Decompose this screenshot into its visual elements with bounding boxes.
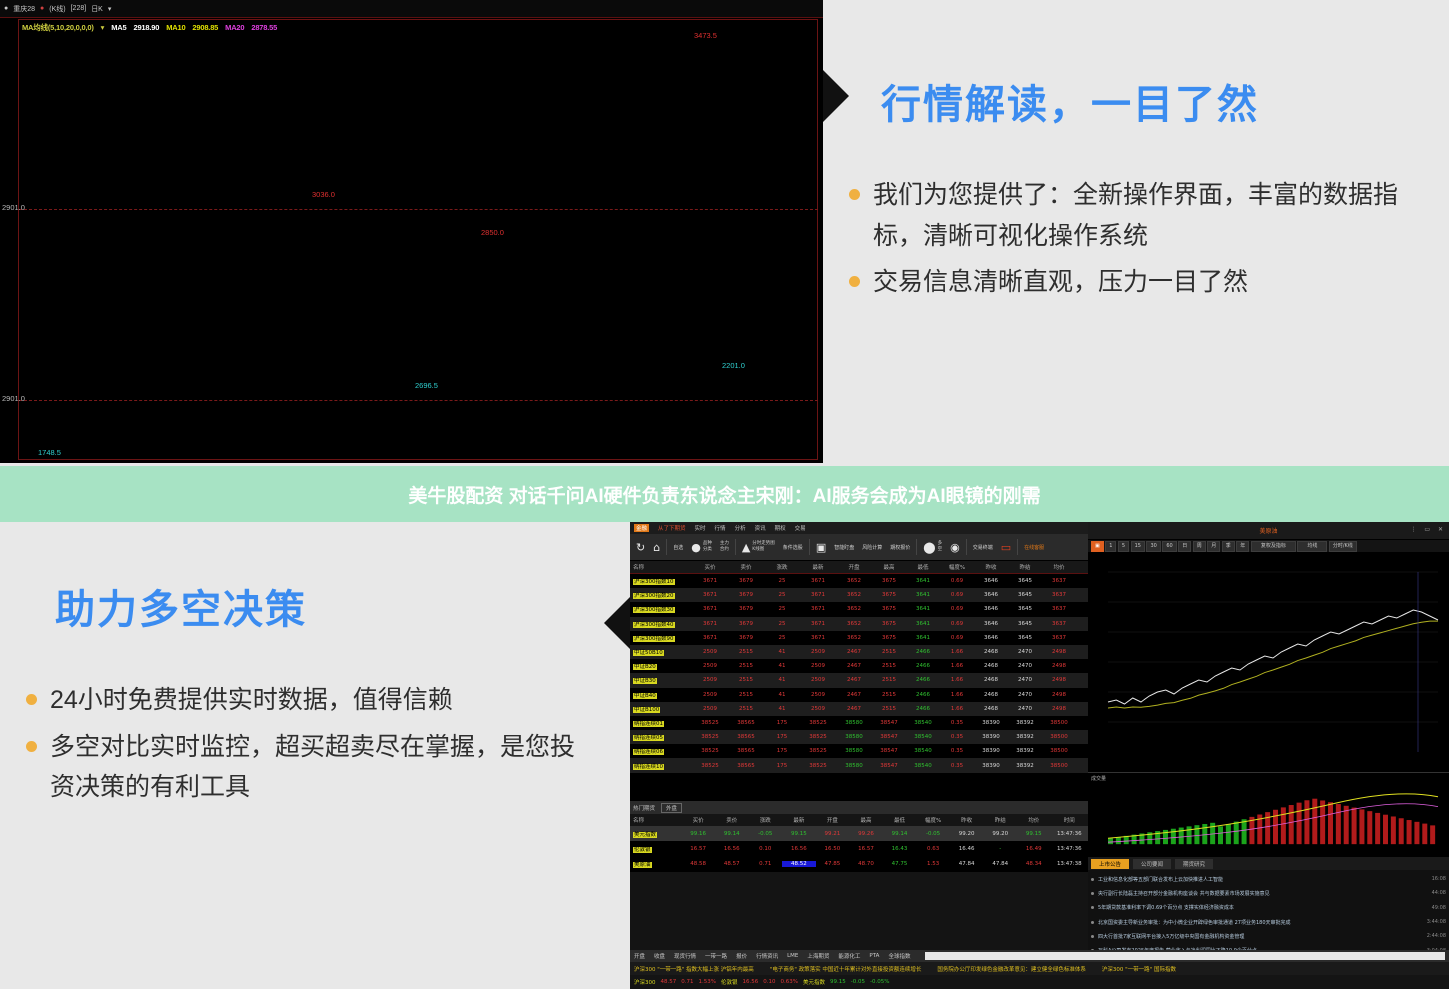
cell-5: 38547 [872, 734, 906, 740]
cell-1: 38565 [728, 720, 764, 726]
table-row[interactable]: 沪深300指数20367136792536713652367536410.693… [630, 588, 1088, 602]
table-row[interactable]: 沪深300指数90367136792536713652367536410.693… [630, 631, 1088, 645]
news-item[interactable]: 工业和信息化部等五部门联合发布上云加快推进人工智能16:08 [1091, 872, 1446, 886]
news-title: 四大行首批7家互联网平台接入5万亿级中央国有金融机构资金管理 [1098, 933, 1423, 940]
cell-2: 41 [764, 692, 800, 698]
toolbar-separator [1017, 539, 1018, 555]
table-row[interactable]: 美元指数99.1699.14-0.0599.1599.2199.2699.14-… [630, 826, 1088, 841]
toolbar-label-2: 自选 [673, 544, 683, 551]
table-row[interactable]: 中证B20250925154125092467251524661.6624682… [630, 659, 1088, 673]
status-quote-value: 16.56 [743, 979, 759, 985]
status-menu-item[interactable]: 上海期货 [807, 952, 829, 960]
headline-banner: 美牛股配资 对话千问AI硬件负责东说念主宋刚：AI服务会成为AI眼镜的刚需 [0, 466, 1449, 522]
cell-3: 2509 [800, 692, 836, 698]
toolbar-button-11[interactable]: ⬤多空 [921, 541, 944, 552]
quote2-tab-0[interactable]: 热门期货 [633, 804, 655, 812]
cell-1: 99.14 [715, 831, 749, 837]
ma20-value: 2878.55 [251, 23, 277, 32]
chart-type-icon[interactable]: ▣ [1091, 541, 1104, 552]
trading-terminal-screenshot: 金融从了下期货实时行情分析资讯期权交易 ↻⌂自选●品种分类主力合约▲分时走势图K… [630, 522, 1449, 989]
column-header-5[interactable]: 开盘 [836, 563, 872, 571]
cell-9: 3645 [1008, 606, 1042, 612]
period-button-年[interactable]: 年 [1236, 541, 1249, 552]
toolbar-icon-7: ▣ [816, 542, 826, 553]
period-button-月[interactable]: 月 [1207, 541, 1220, 552]
cell-3: 38525 [800, 748, 836, 754]
q2-header-4[interactable]: 最新 [782, 816, 816, 824]
table-row[interactable]: 沪深300指数30367136792536713652367536410.693… [630, 602, 1088, 616]
ma-legend-name[interactable]: MA均线(5,10,20,0,0,0) [22, 22, 94, 33]
chart-title-dot: ● [4, 5, 8, 12]
cell-3: 3671 [800, 635, 836, 641]
table-row[interactable]: 中证B100250925154125092467251524661.662468… [630, 702, 1088, 716]
toolbar-icon-12: ◉ [950, 542, 960, 553]
cell-7: 1.66 [940, 677, 974, 683]
toolbar-button-13[interactable]: 交易终端 [971, 544, 995, 551]
cell-1: 3679 [728, 592, 764, 598]
row-instrument-name: 中证B40 [630, 691, 692, 699]
status-menu-item[interactable]: 全球指数 [888, 952, 910, 960]
chart-pane-title: 美原油 [1259, 526, 1277, 535]
table-row[interactable]: 纳指连续013852538565175385253858038547385400… [630, 716, 1088, 730]
q2-header-5[interactable]: 开盘 [816, 816, 850, 824]
toolbar-separator [916, 539, 917, 555]
news-date: 49:08 [1432, 905, 1446, 911]
news-tab[interactable]: 公司要闻 [1133, 859, 1171, 869]
cell-0: 2509 [692, 677, 728, 683]
cell-2: 175 [764, 748, 800, 754]
cell-5: 3675 [872, 635, 906, 641]
cell-4: 3652 [836, 592, 872, 598]
cell-3: 38525 [800, 734, 836, 740]
toolbar-label-8: 智能盯盘 [834, 544, 854, 551]
indicator-dropdown[interactable]: 复权及指标 [1251, 541, 1296, 552]
toolbar-button-5[interactable]: ▲分时走势图K线图 [740, 541, 777, 552]
cell-5: 2515 [872, 649, 906, 655]
secondary-quote-table: 名称买价卖价涨跌最新开盘最高最低幅度%昨收昨结均价时间 美元指数99.1699.… [630, 814, 1088, 872]
toolbar-separator [809, 539, 810, 555]
toolbar-button-9[interactable]: 风险计算 [860, 544, 884, 551]
cell-5: 38547 [872, 720, 906, 726]
ma-legend-caret[interactable]: ▾ [101, 23, 105, 32]
table-row[interactable]: 纳指连续053852538565175385253858038547385400… [630, 730, 1088, 744]
ma5-value: 2918.90 [133, 23, 159, 32]
terminal-tab-bar: 金融从了下期货实时行情分析资讯期权交易 [630, 522, 1088, 534]
status-quote-label: 伦敦银 [721, 978, 738, 986]
column-header-6[interactable]: 最高 [872, 563, 906, 571]
q2-header-9[interactable]: 昨收 [950, 816, 984, 824]
cell-4: 2467 [836, 649, 872, 655]
gridline-lower [19, 400, 818, 401]
toolbar-button-12[interactable]: ◉ [948, 542, 962, 553]
toolbar-button-10[interactable]: 期权报价 [888, 544, 912, 551]
period-button-1[interactable]: 1 [1105, 541, 1116, 552]
cell-6: 16.43 [883, 846, 917, 852]
cell-4: 3652 [836, 635, 872, 641]
table-row[interactable]: 纳指连续103852538565175385253858038547385400… [630, 758, 1088, 772]
terminal-toolbar: ↻⌂自选●品种分类主力合约▲分时走势图K线图条件选股▣智能盯盘风险计算期权报价⬤… [630, 534, 1088, 561]
cell-10: 99.15 [1017, 831, 1051, 837]
cell-10: 3637 [1042, 578, 1076, 584]
chart-period-selector[interactable]: 日K [91, 4, 103, 14]
column-header-10[interactable]: 昨结 [1008, 563, 1042, 571]
status-quote-chg: -0.05 [851, 979, 865, 985]
cell-0: 38525 [692, 734, 728, 740]
cell-6: 2466 [906, 677, 940, 683]
toolbar-separator [966, 539, 967, 555]
cell-4: 99.21 [816, 831, 850, 837]
toolbar-label-3: 品种分类 [703, 541, 712, 552]
column-header-2[interactable]: 卖价 [728, 563, 764, 571]
news-tab[interactable]: 期货研究 [1175, 859, 1213, 869]
chart-title-marker: ● [40, 5, 44, 12]
cell-8: 2468 [974, 677, 1008, 683]
cell-7: 0.35 [940, 763, 974, 769]
cell-5: 3675 [872, 621, 906, 627]
ticker-item: 国务院办公厅印发绿色金融改革意见：建立健全绿色标准体系 [937, 965, 1086, 973]
cell-5: 3675 [872, 592, 906, 598]
cell-6: 2466 [906, 663, 940, 669]
cell-10: 3637 [1042, 606, 1076, 612]
bullet-dot-icon [1091, 906, 1094, 909]
toolbar-label-9: 风险计算 [862, 544, 882, 551]
toolbar-button-8[interactable]: 智能盯盘 [832, 544, 856, 551]
row-instrument-name: 中证B20 [630, 662, 692, 670]
column-header-7[interactable]: 最低 [906, 563, 940, 571]
terminal-tab-7[interactable]: 交易 [795, 524, 806, 532]
column-header-1[interactable]: 买价 [692, 563, 728, 571]
row-instrument-name: 伦敦银 [630, 845, 681, 853]
column-header-4[interactable]: 最新 [800, 563, 836, 571]
cell-3: 16.56 [782, 846, 816, 852]
toolbar-icon-3: ● [691, 542, 701, 553]
terminal-tab-2[interactable]: 实时 [695, 524, 706, 532]
cell-4: 2467 [836, 663, 872, 669]
table-row[interactable]: 沪深300指数40367136792536713652367536410.693… [630, 617, 1088, 631]
cell-0: 38525 [692, 720, 728, 726]
bottom-bullet-1: 24小时免费提供实时数据，值得信赖 [50, 680, 453, 721]
cell-1: 3679 [728, 635, 764, 641]
bullet-dot-icon [26, 694, 37, 705]
row-instrument-name: 纳指连续05 [630, 733, 692, 741]
cell-8: 2468 [974, 663, 1008, 669]
table-row[interactable]: 中证B40250925154125092467251524661.6624682… [630, 688, 1088, 702]
top-kline-chart-screenshot: ● 重庆28 ● (K线) [228] 日K ▾ MA均线(5,10,20,0,… [0, 0, 823, 463]
top-text-column: 行情解读，一目了然 我们为您提供了：全新操作界面，丰富的数据指标，清晰可视化操作… [823, 0, 1449, 463]
column-header-9[interactable]: 昨收 [974, 563, 1008, 571]
row-instrument-name: 纳指连续01 [630, 719, 692, 727]
cell-4: 38580 [836, 734, 872, 740]
status-quote-chg: 0.71 [681, 979, 693, 985]
cell-5: 99.26 [849, 831, 883, 837]
status-quote-label: 美元指数 [803, 978, 825, 986]
status-quote-label: 沪深300 [634, 978, 656, 986]
cell-7: 1.66 [940, 663, 974, 669]
cell-10: 3637 [1042, 621, 1076, 627]
terminal-tab-5[interactable]: 资讯 [755, 524, 766, 532]
toolbar-button-7[interactable]: ▣ [814, 542, 828, 553]
status-menu-item[interactable]: 一带一路 [705, 952, 727, 960]
pointer-arrow-icon [604, 597, 630, 649]
news-tab-bar: 上市公告公司要闻期货研究 [1088, 857, 1449, 870]
cell-4: 3652 [836, 578, 872, 584]
status-quote-value: 99.15 [830, 979, 846, 985]
cell-7: 0.35 [940, 748, 974, 754]
cell-6: 3641 [906, 578, 940, 584]
cell-8: 2468 [974, 649, 1008, 655]
q2-header-7[interactable]: 最低 [883, 816, 917, 824]
cell-7: 0.69 [940, 621, 974, 627]
cell-4: 47.85 [816, 861, 850, 867]
row-instrument-name: 中证B30 [630, 676, 692, 684]
cell-8: 38390 [974, 734, 1008, 740]
gridline-upper [19, 209, 818, 210]
cell-0: 3671 [692, 592, 728, 598]
q2-header-1[interactable]: 买价 [681, 816, 715, 824]
terminal-tab-0[interactable]: 金融 [634, 524, 649, 532]
status-menu-item[interactable]: 报价 [736, 952, 747, 960]
period-button-日[interactable]: 日 [1178, 541, 1191, 552]
cell-2: 25 [764, 578, 800, 584]
cell-0: 3671 [692, 635, 728, 641]
cell-2: 175 [764, 720, 800, 726]
q2-header-2[interactable]: 卖价 [715, 816, 749, 824]
cell-8: 38390 [974, 748, 1008, 754]
top-bullet-2: 交易信息清晰直观，压力一目了然 [873, 262, 1248, 303]
cell-2: 0.71 [748, 861, 782, 867]
cell-0: 16.57 [681, 846, 715, 852]
status-menu-item[interactable]: PTA [869, 953, 879, 959]
cell-9: 99.20 [983, 831, 1017, 837]
bullet-dot-icon [1091, 935, 1094, 938]
cell-3: 48.52 [782, 861, 816, 867]
toolbar-label-6: 条件选股 [783, 544, 803, 551]
news-title: 工业和信息化部等五部门联合发布上云加快推进人工智能 [1098, 876, 1428, 883]
row-instrument-name: 美元指数 [630, 830, 681, 838]
column-header-3[interactable]: 涨跌 [764, 563, 800, 571]
terminal-tab-1[interactable]: 从了下期货 [658, 524, 686, 532]
cell-2: 25 [764, 592, 800, 598]
status-quote-pct: 0.63% [781, 979, 798, 985]
cell-7: 0.69 [940, 578, 974, 584]
cell-7: 1.66 [940, 649, 974, 655]
cell-9: - [983, 846, 1017, 852]
cell-10: 38500 [1042, 720, 1076, 726]
quote2-tab-1[interactable]: 外盘 [661, 803, 682, 813]
cell-3: 99.15 [782, 831, 816, 837]
cell-10: 2498 [1042, 692, 1076, 698]
status-menu-item[interactable]: 收盘 [654, 952, 665, 960]
bullet-dot-icon [1091, 878, 1094, 881]
toolbar-label-5: 分时走势图K线图 [752, 541, 775, 552]
toolbar-icon-14: ▭ [1001, 542, 1011, 553]
table-row[interactable]: 中证B30250925154125092467251524661.6624682… [630, 673, 1088, 687]
cell-8: 2468 [974, 706, 1008, 712]
cell-2: -0.05 [748, 831, 782, 837]
terminal-tab-3[interactable]: 行情 [715, 524, 726, 532]
q2-header-6[interactable]: 最高 [849, 816, 883, 824]
period-button-60[interactable]: 60 [1162, 541, 1176, 552]
cell-6: 38540 [906, 734, 940, 740]
news-date: 16:08 [1432, 876, 1446, 882]
period-button-周[interactable]: 周 [1193, 541, 1206, 552]
table-row[interactable]: 沪深300指数10367136792536713652367536410.693… [630, 574, 1088, 588]
table-row[interactable]: 中证50B10250925154125092467251524661.66246… [630, 645, 1088, 659]
cell-10: 38500 [1042, 763, 1076, 769]
period-button-30[interactable]: 30 [1146, 541, 1160, 552]
bullet-dot-icon [849, 276, 860, 287]
cell-1: 2515 [728, 706, 764, 712]
quote-table-body: 沪深300指数10367136792536713652367536410.693… [630, 574, 1088, 773]
toolbar-button-3[interactable]: ●品种分类 [689, 541, 714, 552]
q2-header-0[interactable]: 名称 [630, 816, 681, 824]
secondary-quote-header: 名称买价卖价涨跌最新开盘最高最低幅度%昨收昨结均价时间 [630, 814, 1088, 826]
cell-5: 3675 [872, 606, 906, 612]
ma-dropdown[interactable]: 均线 [1297, 541, 1327, 552]
cell-7: 1.53 [916, 861, 950, 867]
indicator-chart-plot [1088, 773, 1449, 857]
toolbar-icon-1: ⌂ [653, 542, 660, 553]
news-date: 2:44:08 [1427, 933, 1446, 939]
chart-mode-toggle[interactable]: 分时/K线 [1329, 541, 1357, 552]
q2-header-8[interactable]: 幅度% [916, 816, 950, 824]
cell-8: 2468 [974, 692, 1008, 698]
cell-5: 2515 [872, 663, 906, 669]
cell-6: 3641 [906, 592, 940, 598]
quote-table: 名称买价卖价涨跌最新开盘最高最低幅度%昨收昨结均价 沪深300指数1036713… [630, 561, 1088, 801]
news-item[interactable]: 四大行首批7家互联网平台接入5万亿级中央国有金融机构资金管理2:44:08 [1091, 929, 1446, 943]
toolbar-button-4[interactable]: 主力合约 [718, 541, 731, 552]
toolbar-button-2[interactable]: 自选 [671, 544, 685, 551]
list-item: 我们为您提供了：全新操作界面，丰富的数据指标，清晰可视化操作系统 [849, 175, 1439, 256]
toolbar-label-11: 多空 [938, 541, 943, 552]
cell-2: 41 [764, 649, 800, 655]
terminal-tab-4[interactable]: 分析 [735, 524, 746, 532]
toolbar-button-6[interactable]: 条件选股 [781, 544, 805, 551]
cell-7: 1.66 [940, 692, 974, 698]
cell-2: 175 [764, 734, 800, 740]
q2-header-12[interactable]: 时间 [1051, 816, 1089, 824]
news-title: 5年期贷款基准利率下调0.69个百分点 支撑实体经济融资成本 [1098, 904, 1428, 911]
status-menu-item[interactable]: 能源化工 [838, 952, 860, 960]
top-feature-section: ● 重庆28 ● (K线) [228] 日K ▾ MA均线(5,10,20,0,… [0, 0, 1449, 466]
cell-9: 3645 [1008, 578, 1042, 584]
bottom-text-column: 助力多空决策 24小时免费提供实时数据，值得信赖 多空对比实时监控，超买超卖尽在… [0, 522, 630, 989]
column-header-8[interactable]: 幅度% [940, 563, 974, 571]
column-header-11[interactable]: 均价 [1042, 563, 1076, 571]
status-ticker-row: 沪深300 "一带一路" 指数大幅上涨 沪铝年内最高"电子商务" 政策落实 中国… [630, 962, 1449, 975]
bottom-bullet-2: 多空对比实时监控，超买超卖尽在掌握，是您投资决策的有利工具 [50, 727, 596, 808]
toolbar-icon-11: ⬤ [923, 542, 935, 553]
news-item[interactable]: 5年期贷款基准利率下调0.69个百分点 支撑实体经济融资成本49:08 [1091, 901, 1446, 915]
list-item: 多空对比实时监控，超买超卖尽在掌握，是您投资决策的有利工具 [26, 727, 596, 808]
news-item[interactable]: 央行副行长陆磊主持召开部分金融机构座谈会 共与数据要素市场发展实施意见44:08 [1091, 886, 1446, 900]
toolbar-button-15[interactable]: 在线客服 [1022, 544, 1046, 551]
bottom-feature-section: 助力多空决策 24小时免费提供实时数据，值得信赖 多空对比实时监控，超买超卖尽在… [0, 522, 1449, 989]
window-controls[interactable]: ⋮ ▭ ✕ [1410, 526, 1446, 533]
chart-titlebar: ● 重庆28 ● (K线) [228] 日K ▾ [0, 0, 823, 18]
cell-9: 3645 [1008, 621, 1042, 627]
cell-4: 38580 [836, 748, 872, 754]
cell-10: 38500 [1042, 734, 1076, 740]
news-tab[interactable]: 上市公告 [1091, 859, 1129, 869]
cell-8: 3646 [974, 578, 1008, 584]
cell-1: 2515 [728, 663, 764, 669]
cell-4: 16.50 [816, 846, 850, 852]
news-item[interactable]: 北京国资委主导新业务审批：为中小微企业开辟绿色审批通道 27项业务180天审批完… [1091, 915, 1446, 929]
q2-header-11[interactable]: 均价 [1017, 816, 1051, 824]
cell-9: 38392 [1008, 763, 1042, 769]
column-header-0[interactable]: 名称 [630, 563, 692, 571]
cell-8: 3646 [974, 621, 1008, 627]
cell-6: 2466 [906, 649, 940, 655]
cell-8: 3646 [974, 592, 1008, 598]
quote-table-header: 名称买价卖价涨跌最新开盘最高最低幅度%昨收昨结均价 [630, 561, 1088, 574]
cell-6: 3641 [906, 621, 940, 627]
period-button-15[interactable]: 15 [1131, 541, 1145, 552]
indicator-chart-area: 成交量 [1088, 772, 1449, 857]
search-input[interactable] [925, 952, 1445, 960]
top-panel-bullet-list: 我们为您提供了：全新操作界面，丰富的数据指标，清晰可视化操作系统 交易信息清晰直… [849, 175, 1439, 309]
toolbar-separator [666, 539, 667, 555]
q2-header-3[interactable]: 涨跌 [748, 816, 782, 824]
toolbar-button-14[interactable]: ▭ [999, 542, 1013, 553]
ma10-label: MA10 [166, 23, 185, 32]
bottom-panel-bullet-list: 24小时免费提供实时数据，值得信赖 多空对比实时监控，超买超卖尽在掌握，是您投资… [26, 680, 596, 814]
period-button-季[interactable]: 季 [1222, 541, 1235, 552]
cell-8: 16.46 [950, 846, 984, 852]
period-button-5[interactable]: 5 [1118, 541, 1129, 552]
row-instrument-name: 沪深300指数40 [630, 620, 692, 628]
toolbar-label-13: 交易终端 [973, 544, 993, 551]
chevron-down-icon[interactable]: ▾ [108, 5, 112, 13]
cell-3: 2509 [800, 649, 836, 655]
table-row[interactable]: 纳指连续063852538565175385253858038547385400… [630, 744, 1088, 758]
q2-header-10[interactable]: 昨结 [983, 816, 1017, 824]
status-menu-item[interactable]: 行情资讯 [756, 952, 778, 960]
status-menu-item[interactable]: LME [787, 953, 798, 959]
ma-legend: MA均线(5,10,20,0,0,0) ▾ MA5 2918.90 MA10 2… [22, 21, 277, 33]
cell-7: 0.69 [940, 606, 974, 612]
status-menu-item[interactable]: 开盘 [634, 952, 645, 960]
pointer-arrow-icon [823, 70, 849, 122]
cell-10: 3637 [1042, 592, 1076, 598]
cell-3: 2509 [800, 706, 836, 712]
ticker-item: "电子商务" 政策落实 中国近十年累计对外直接投资额连续增长 [770, 965, 922, 973]
cell-4: 38580 [836, 763, 872, 769]
cell-10: 2498 [1042, 663, 1076, 669]
cell-7: 0.63 [916, 846, 950, 852]
cell-9: 2470 [1008, 706, 1042, 712]
cell-2: 41 [764, 706, 800, 712]
toolbar-button-0[interactable]: ↻ [634, 542, 647, 553]
cell-7: 1.66 [940, 706, 974, 712]
cell-1: 3679 [728, 621, 764, 627]
cell-3: 3671 [800, 621, 836, 627]
toolbar-button-1[interactable]: ⌂ [651, 542, 662, 553]
cell-1: 2515 [728, 677, 764, 683]
banner-headline-text: 美牛股配资 对话千问AI硬件负责东说念主宋刚：AI服务会成为AI眼镜的刚需 [408, 481, 1040, 508]
cell-6: 47.75 [883, 861, 917, 867]
status-menu-item[interactable]: 现货行情 [674, 952, 696, 960]
table-row[interactable]: 美原油48.5848.570.7148.5247.8548.7047.751.5… [630, 856, 1088, 871]
table-row[interactable]: 伦敦银16.5716.560.1016.5616.5016.5716.430.6… [630, 841, 1088, 856]
annotation-1748: 1748.5 [38, 448, 61, 457]
row-instrument-name: 沪深300指数30 [630, 605, 692, 613]
cell-11: 13:47:36 [1051, 831, 1089, 837]
toolbar-label-15: 在线客服 [1024, 544, 1044, 551]
terminal-tab-6[interactable]: 期权 [775, 524, 786, 532]
